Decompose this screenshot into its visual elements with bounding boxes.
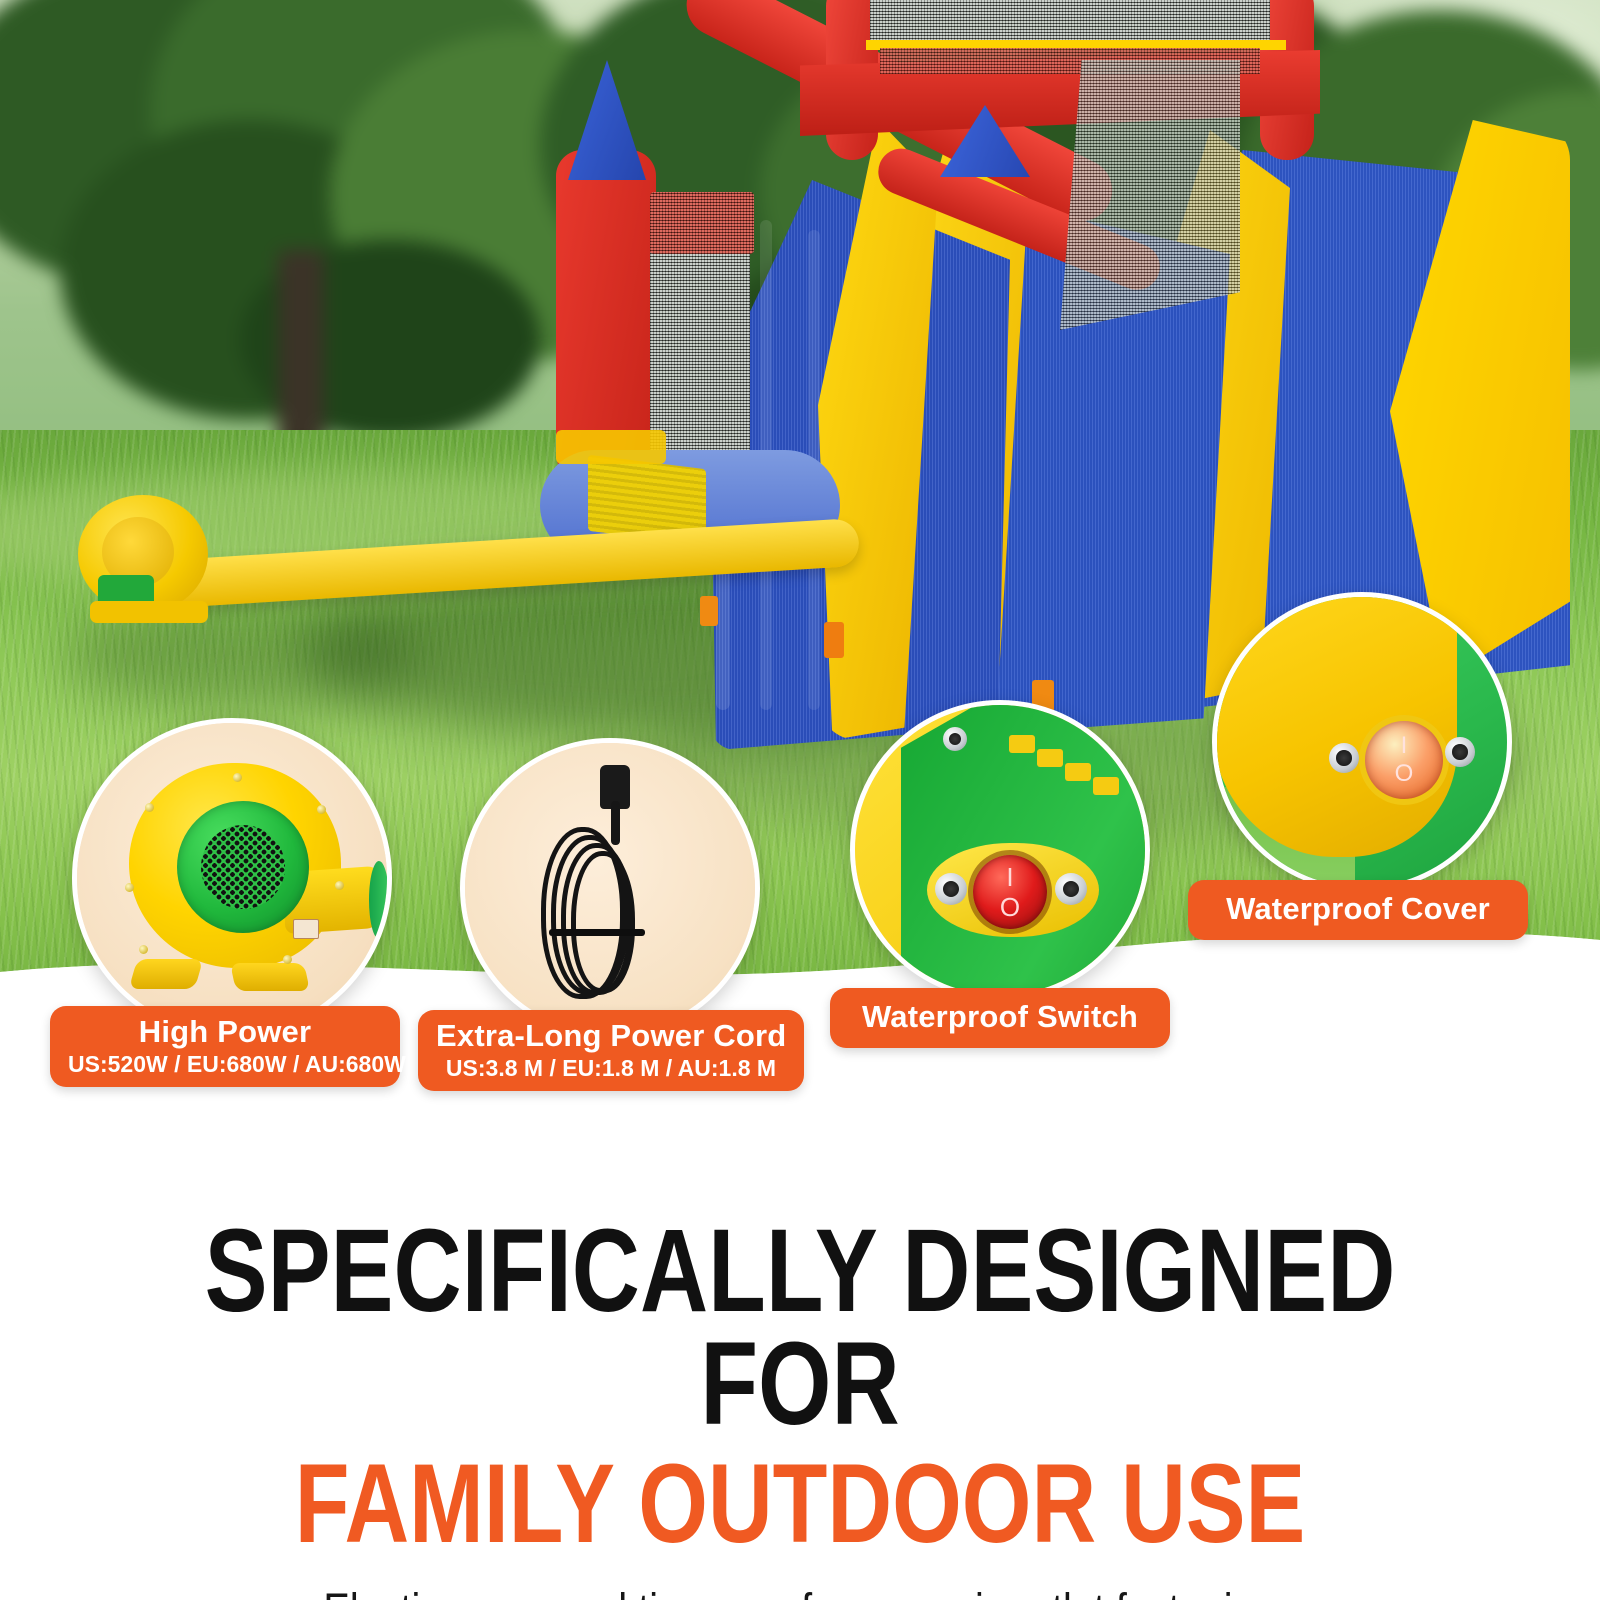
switch-on-marking: I <box>1401 734 1408 758</box>
headline-line1: SPECIFICALLY DESIGNED FOR <box>160 1215 1440 1442</box>
mesh-panel-right <box>1060 60 1240 330</box>
waterproof-cover-icon: I O <box>1212 592 1512 892</box>
badge-title: Waterproof Cover <box>1210 893 1506 926</box>
switch-off-marking: O <box>1395 762 1414 786</box>
ground-stake <box>824 622 844 658</box>
marketing-banner: High Power US:520W / EU:680W / AU:680W E… <box>0 0 1600 1600</box>
headline-block: SPECIFICALLY DESIGNED FOR FAMILY OUTDOOR… <box>0 1215 1600 1600</box>
switch-off-marking: O <box>1000 894 1020 920</box>
switch-on-marking: I <box>1006 864 1013 890</box>
badge-waterproof-switch: Waterproof Switch <box>830 988 1170 1048</box>
power-cord-icon <box>460 738 760 1038</box>
badge-title: Extra-Long Power Cord <box>436 1020 786 1053</box>
badge-waterproof-cover: Waterproof Cover <box>1188 880 1528 940</box>
badge-high-power: High Power US:520W / EU:680W / AU:680W <box>50 1006 400 1087</box>
scene-blower <box>70 495 220 625</box>
badge-power-cord: Extra-Long Power Cord US:3.8 M / EU:1.8 … <box>418 1010 804 1091</box>
mesh-panel-left-top <box>650 192 754 254</box>
mesh-panel-top <box>870 0 1270 42</box>
rocker-switch-icon: I O <box>850 700 1150 1000</box>
ground-stake <box>700 596 718 626</box>
blower-icon <box>72 718 392 1038</box>
badge-title: Waterproof Switch <box>852 1001 1148 1034</box>
headline-subtitle: Elastic ropes and tie ropes for easy air… <box>96 1584 1504 1600</box>
badge-title: High Power <box>68 1016 382 1049</box>
badge-subtitle: US:3.8 M / EU:1.8 M / AU:1.8 M <box>436 1056 786 1080</box>
headline-line2: FAMILY OUTDOOR USE <box>160 1448 1440 1560</box>
badge-subtitle: US:520W / EU:680W / AU:680W <box>68 1052 382 1076</box>
